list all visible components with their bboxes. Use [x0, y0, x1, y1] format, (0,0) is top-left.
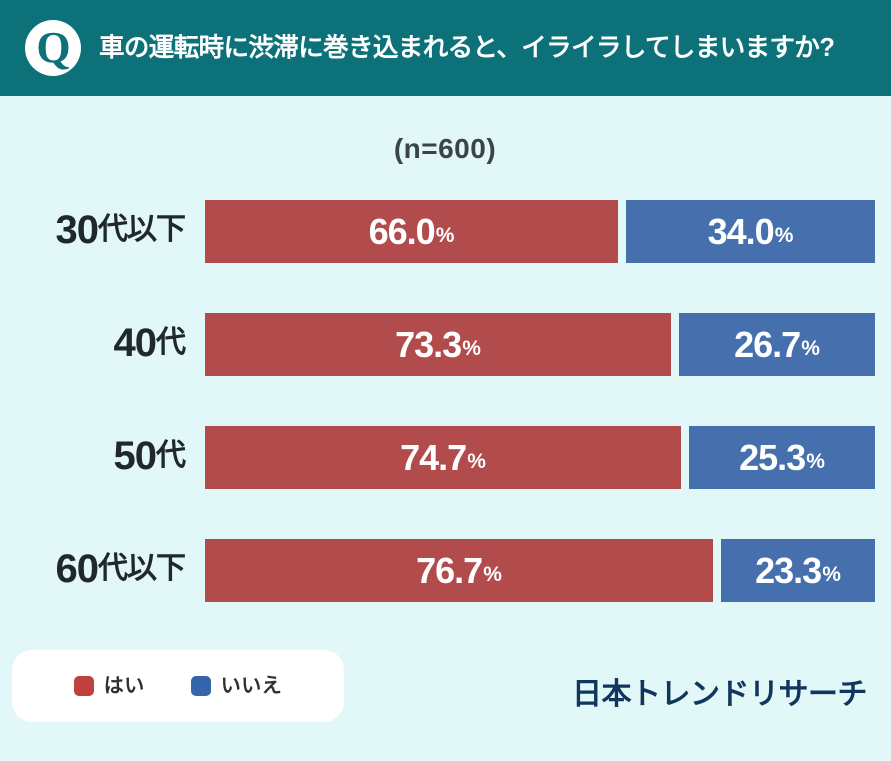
percent-sign: %: [436, 225, 455, 246]
sample-size-label: (n=600): [205, 133, 685, 165]
question-header: Q 車の運転時に渋滞に巻き込まれると、イライラしてしまいますか?: [0, 0, 891, 96]
row-category-label: 30代以下: [0, 196, 185, 263]
row-age-number: 30: [56, 210, 99, 250]
bar-segment-yes: 76.7%: [205, 539, 713, 602]
percent-sign: %: [483, 564, 502, 585]
bar-segment-yes: 74.7%: [205, 426, 681, 489]
row-age-suffix: 代以下: [98, 554, 185, 584]
bar-value-yes: 73.3: [395, 327, 461, 363]
chart-row: 60代以下 76.7% 23.3%: [0, 535, 891, 648]
legend-swatch-icon-no: [191, 676, 211, 696]
row-age-suffix: 代以下: [98, 215, 185, 245]
legend-swatch-icon-yes: [74, 676, 94, 696]
bar-segment-no: 25.3%: [689, 426, 875, 489]
bar-value-yes: 66.0: [369, 214, 435, 250]
bar-value-yes: 76.7: [416, 553, 482, 589]
bar-track: 74.7% 25.3%: [205, 426, 875, 489]
bar-track: 73.3% 26.7%: [205, 313, 875, 376]
bar-segment-yes: 66.0%: [205, 200, 618, 263]
row-category-label: 40代: [0, 309, 185, 376]
survey-poster: Q 車の運転時に渋滞に巻き込まれると、イライラしてしまいますか? (n=600)…: [0, 0, 891, 761]
bar-segment-no: 34.0%: [626, 200, 875, 263]
chart-legend: はい いいえ: [12, 650, 344, 722]
legend-label-no: いいえ: [221, 676, 283, 696]
legend-item-yes: はい: [74, 676, 145, 696]
chart-row: 30代以下 66.0% 34.0%: [0, 196, 891, 309]
bar-segment-no: 23.3%: [721, 539, 875, 602]
bar-value-no: 25.3: [739, 440, 805, 476]
row-age-number: 50: [114, 436, 157, 476]
row-category-label: 50代: [0, 422, 185, 489]
row-age-suffix: 代: [156, 441, 185, 471]
legend-label-yes: はい: [104, 676, 145, 696]
percent-sign: %: [801, 338, 820, 359]
percent-sign: %: [467, 451, 486, 472]
percent-sign: %: [462, 338, 481, 359]
question-badge-icon: Q: [25, 20, 81, 76]
question-title: 車の運転時に渋滞に巻き込まれると、イライラしてしまいますか?: [99, 34, 881, 63]
percent-sign: %: [822, 564, 841, 585]
row-category-label: 60代以下: [0, 535, 185, 602]
bar-value-no: 23.3: [755, 553, 821, 589]
percent-sign: %: [806, 451, 825, 472]
bar-segment-yes: 73.3%: [205, 313, 671, 376]
legend-item-no: いいえ: [191, 676, 283, 696]
stacked-bar-chart: 30代以下 66.0% 34.0% 40代 73.3% 26.: [0, 196, 891, 648]
brand-logo: 日本トレンドリサーチ: [572, 680, 867, 710]
chart-row: 40代 73.3% 26.7%: [0, 309, 891, 422]
row-age-number: 40: [114, 323, 157, 363]
bar-value-yes: 74.7: [400, 440, 466, 476]
bar-segment-no: 26.7%: [679, 313, 875, 376]
bar-track: 76.7% 23.3%: [205, 539, 875, 602]
chart-row: 50代 74.7% 25.3%: [0, 422, 891, 535]
row-age-suffix: 代: [156, 328, 185, 358]
row-age-number: 60: [56, 549, 99, 589]
bar-value-no: 26.7: [734, 327, 800, 363]
bar-track: 66.0% 34.0%: [205, 200, 875, 263]
bar-value-no: 34.0: [708, 214, 774, 250]
percent-sign: %: [775, 225, 794, 246]
